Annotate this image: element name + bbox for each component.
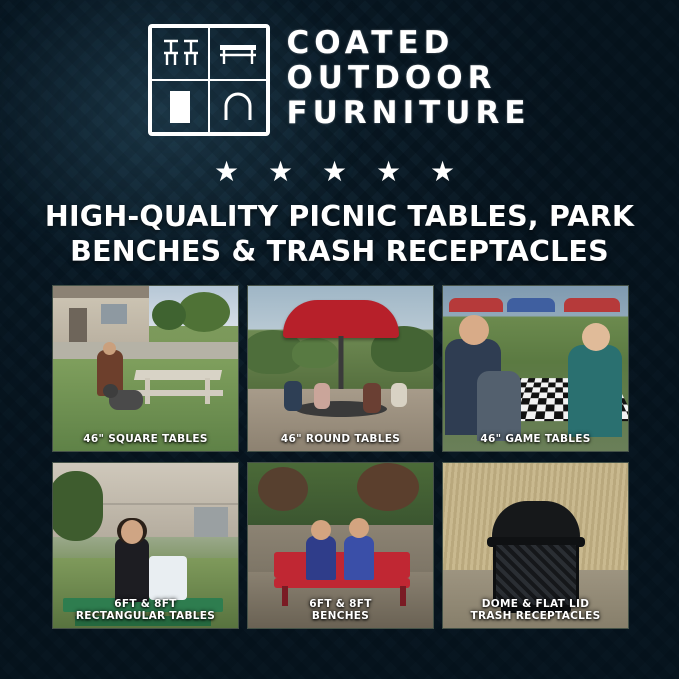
product-card-trash-receptacles[interactable]: DOME & FLAT LID TRASH RECEPTACLES (442, 462, 629, 629)
game-table-photo (443, 286, 628, 451)
headline-line-2: BENCHES & TRASH RECEPTACLES (30, 235, 649, 270)
product-grid: 46" SQUARE TABLES 46" ROUND TABLES (52, 285, 627, 629)
brand-logo: COATED OUTDOOR FURNITURE (0, 24, 679, 136)
star-rating: ★ ★ ★ ★ ★ (0, 158, 679, 186)
brand-word-1: COATED (286, 28, 530, 59)
product-banner-image: COATED OUTDOOR FURNITURE ★ ★ ★ ★ ★ HIGH-… (0, 0, 679, 679)
square-table-photo (53, 286, 238, 451)
product-card-round-tables[interactable]: 46" ROUND TABLES (247, 285, 434, 452)
brand-word-3: FURNITURE (286, 98, 530, 129)
product-caption: 46" GAME TABLES (443, 433, 628, 445)
product-caption: 46" ROUND TABLES (248, 433, 433, 445)
product-card-rectangular-tables[interactable]: 6FT & 8FT RECTANGULAR TABLES (52, 462, 239, 629)
product-card-game-tables[interactable]: 46" GAME TABLES (442, 285, 629, 452)
product-card-benches[interactable]: 6FT & 8FT BENCHES (247, 462, 434, 629)
product-caption: 46" SQUARE TABLES (53, 433, 238, 445)
headline-line-1: HIGH-QUALITY PICNIC TABLES, PARK (45, 200, 634, 233)
logo-mark-icon (148, 24, 270, 136)
arch-bench-icon (209, 80, 267, 133)
park-bench-icon (209, 27, 267, 80)
product-caption: 6FT & 8FT BENCHES (248, 598, 433, 622)
trash-receptacle-icon (151, 80, 209, 133)
product-card-square-tables[interactable]: 46" SQUARE TABLES (52, 285, 239, 452)
picnic-bench-icon (151, 27, 209, 80)
brand-word-2: OUTDOOR (286, 63, 530, 94)
page-title: HIGH-QUALITY PICNIC TABLES, PARK BENCHES… (30, 200, 649, 270)
product-caption: 6FT & 8FT RECTANGULAR TABLES (53, 598, 238, 622)
round-table-photo (248, 286, 433, 451)
product-caption: DOME & FLAT LID TRASH RECEPTACLES (443, 598, 628, 622)
brand-wordmark: COATED OUTDOOR FURNITURE (286, 24, 530, 129)
